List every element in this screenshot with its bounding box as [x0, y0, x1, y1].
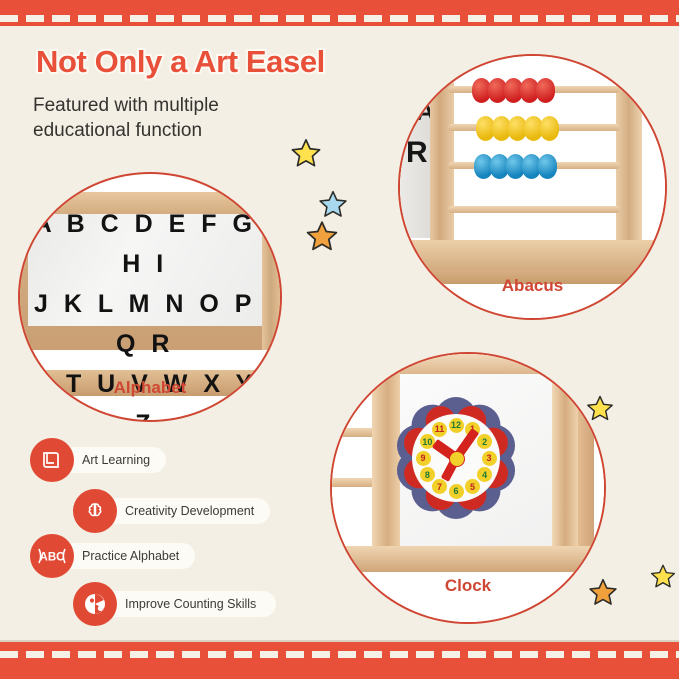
feature-circle-abacus: A R	[398, 54, 667, 320]
star-yellow-bottom-icon	[648, 562, 678, 592]
infographic-canvas: Not Only a Art Easel Featured with multi…	[0, 0, 679, 679]
circle-caption-abacus: Abacus	[400, 276, 665, 296]
circle-caption-alphabet: Alphabet	[20, 378, 280, 398]
star-blue-icon	[316, 188, 350, 222]
abacus-bead-row-yellow	[476, 116, 556, 141]
abacus-bead	[540, 116, 559, 141]
abacus-right-post	[616, 56, 642, 242]
feature-item-counting[interactable]: Improve Counting Skills	[73, 582, 276, 626]
star-orange-mid-icon	[303, 218, 341, 256]
feature-item-art-learning[interactable]: Art Learning	[30, 438, 166, 482]
star-yellow-top-icon	[288, 136, 324, 172]
bottom-border-bar	[0, 640, 679, 679]
abacus-adjacent-board: A R	[400, 56, 434, 238]
clock-shelf	[332, 546, 604, 572]
clock-number: 4	[477, 467, 492, 482]
feature-circle-alphabet: A B C D E F G H I J K L M N O P Q R S T …	[18, 172, 282, 422]
clock-left-rails	[332, 354, 374, 546]
top-dashed-line	[0, 15, 679, 22]
page-title: Not Only a Art Easel	[36, 44, 325, 80]
star-yellow-right-icon	[584, 393, 616, 425]
bottom-hairline	[0, 640, 679, 642]
star-orange-bottom-icon	[586, 576, 620, 610]
feature-item-practice-alphabet[interactable]: ABC Practice Alphabet	[30, 534, 195, 578]
toy-clock: 121234567891011	[396, 398, 516, 518]
alphabet-row: J K L M N O P Q R	[32, 284, 258, 364]
clock-right-post-outer	[578, 354, 594, 550]
circle-caption-clock: Clock	[332, 576, 604, 596]
abacus-bead-row-red	[472, 78, 552, 103]
abacus-bead	[536, 78, 555, 103]
abacus-bead-row-blue	[474, 154, 554, 179]
alphabet-side-rail	[262, 192, 280, 350]
clock-rail	[332, 478, 374, 487]
feature-label: Practice Alphabet	[60, 543, 195, 569]
abacus-partial-letter: R	[406, 136, 428, 170]
clock-number: 3	[482, 451, 497, 466]
abc-icon: ABC	[30, 534, 74, 578]
svg-text:ABC: ABC	[40, 552, 65, 564]
book-icon	[30, 438, 74, 482]
abacus-rod	[448, 206, 620, 213]
clock-number: 2	[477, 434, 492, 449]
feature-circle-clock: 121234567891011 Clock	[330, 352, 606, 624]
clock-number: 12	[449, 418, 464, 433]
feature-label: Improve Counting Skills	[103, 591, 276, 617]
clock-number: 5	[465, 479, 480, 494]
clock-right-post	[552, 360, 578, 548]
clock-rail	[332, 428, 374, 437]
clock-number: 6	[449, 484, 464, 499]
abacus-bead	[538, 154, 557, 179]
brain-icon	[73, 489, 117, 533]
clock-rail	[332, 378, 374, 387]
clock-number: 11	[432, 422, 447, 437]
feature-label: Creativity Development	[103, 498, 270, 524]
clock-number: 9	[416, 451, 431, 466]
counting-icon	[73, 582, 117, 626]
alphabet-row: A B C D E F G H I	[32, 204, 258, 284]
feature-item-creativity[interactable]: Creativity Development	[73, 489, 270, 533]
clock-number: 7	[432, 479, 447, 494]
bottom-dashed-line	[0, 651, 679, 658]
feature-label: Art Learning	[60, 447, 166, 473]
clock-pivot	[449, 451, 465, 467]
clock-number: 8	[420, 467, 435, 482]
top-border-bar	[0, 0, 679, 26]
page-subtitle: Featured with multiple educational funct…	[33, 93, 313, 143]
